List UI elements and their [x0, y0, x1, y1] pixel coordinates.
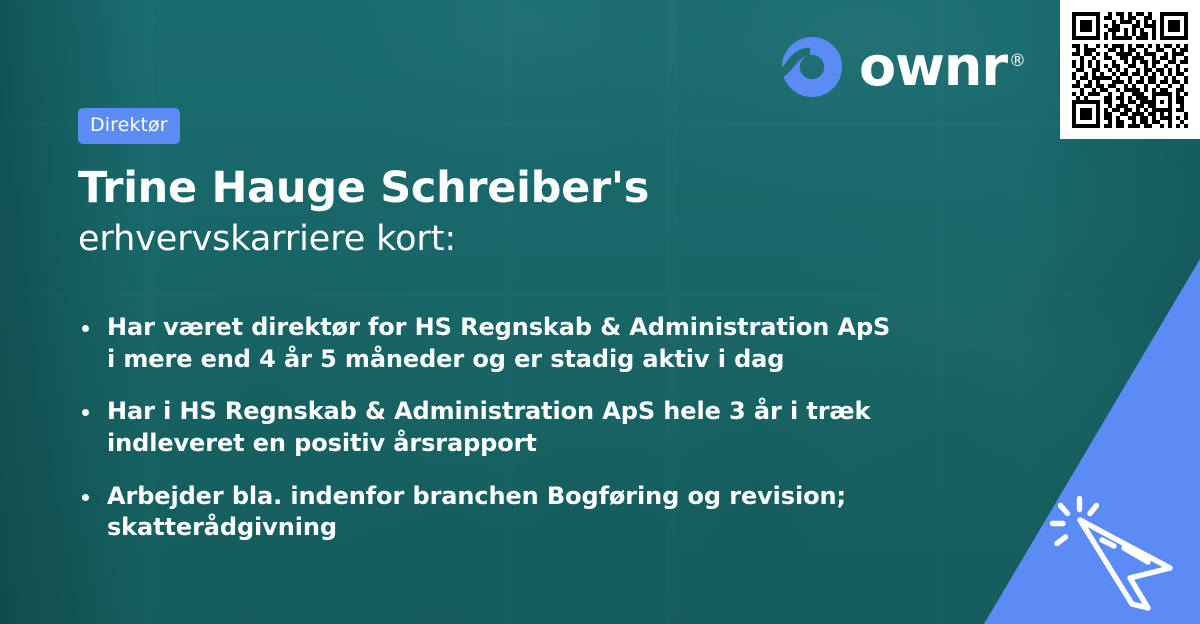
list-item-line-1: Arbejder bla. indenfor branchen Bogførin…: [107, 482, 846, 542]
bullet-dot-icon: [82, 494, 89, 501]
list-item: Har i HS Regnskab & Administration ApS h…: [80, 396, 1040, 459]
qr-code-icon: [1072, 12, 1188, 128]
qr-code[interactable]: [1060, 0, 1200, 139]
page-title: Trine Hauge Schreiber's: [78, 166, 1020, 212]
status-badge: Direktør: [78, 108, 180, 144]
ownr-circle-mark-icon: [781, 36, 843, 98]
click-cursor-icon: [1044, 492, 1182, 612]
page-subtitle: erhvervskarriere kort:: [78, 220, 1020, 260]
bullet-dot-icon: [82, 409, 89, 416]
list-item-line-1: Har i HS Regnskab & Administration ApS h…: [107, 397, 870, 425]
header-block: Direktør Trine Hauge Schreiber's erhverv…: [78, 108, 1020, 259]
career-card: ownr® Direktør Trine Hauge Schreiber's e…: [0, 0, 1200, 624]
list-item: Har været direktør for HS Regnskab & Adm…: [80, 312, 1040, 375]
list-item: Arbejder bla. indenfor branchen Bogførin…: [80, 481, 1040, 544]
ownr-logo[interactable]: ownr®: [781, 36, 1025, 98]
list-item-line-1: Har været direktør for HS Regnskab & Adm…: [107, 313, 890, 341]
ownr-wordmark-text: ownr: [859, 35, 1007, 98]
registered-trademark-icon: ®: [1009, 51, 1025, 71]
bullet-dot-icon: [82, 325, 89, 332]
ownr-wordmark: ownr®: [859, 40, 1025, 94]
list-item-line-2: i mere end 4 år 5 måneder og er stadig a…: [107, 344, 1040, 376]
list-item-line-2: indleveret en positiv årsrapport: [107, 428, 1040, 460]
career-facts-list: Har været direktør for HS Regnskab & Adm…: [80, 312, 1040, 544]
